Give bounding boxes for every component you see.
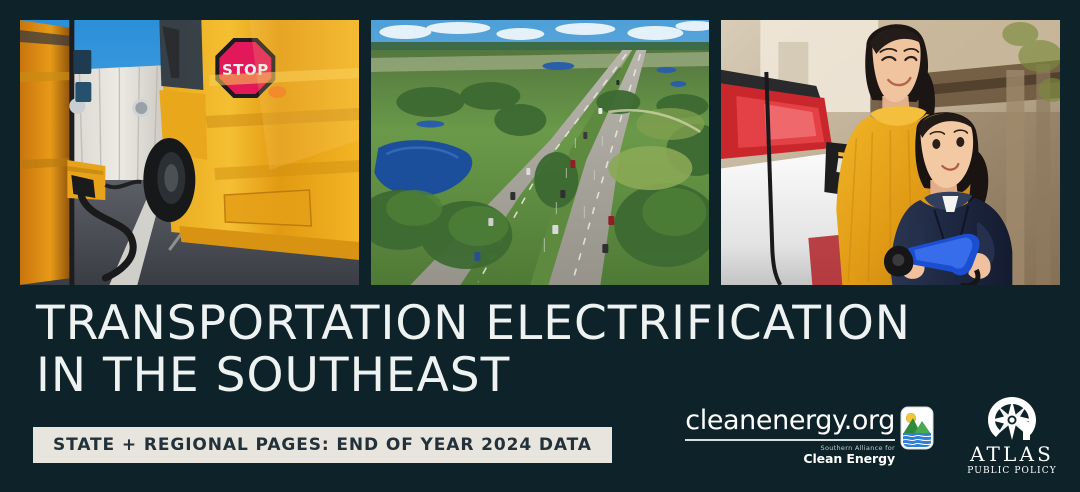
- photo-electric-school-bus-charging: STOP: [20, 20, 359, 285]
- sace-wordmark: cleanenergy.org: [685, 406, 895, 436]
- subtitle-text: STATE + REGIONAL PAGES: END OF YEAR 2024…: [53, 435, 592, 455]
- headline-line-1: TRANSPORTATION ELECTRIFICATION: [36, 298, 1056, 350]
- school-bus-illustration: STOP: [20, 20, 359, 285]
- sace-wordmark-block: cleanenergy.org Southern Alliance for Cl…: [685, 406, 895, 466]
- compass-rose-icon: [986, 396, 1038, 442]
- headline-line-2: IN THE SOUTHEAST: [36, 350, 1056, 402]
- family-ev-charging-illustration: [721, 20, 1060, 285]
- sace-tagline-block: Southern Alliance for Clean Energy: [685, 444, 895, 466]
- logo-atlas-public-policy[interactable]: ATLAS PUBLIC POLICY: [960, 396, 1064, 477]
- photo-strip: STOP: [20, 20, 1060, 285]
- headline: TRANSPORTATION ELECTRIFICATION IN THE SO…: [36, 298, 1056, 402]
- atlas-tagline: PUBLIC POLICY: [967, 465, 1056, 477]
- subtitle-chip: STATE + REGIONAL PAGES: END OF YEAR 2024…: [33, 427, 612, 463]
- aerial-highway-illustration: [371, 20, 710, 285]
- photo-aerial-highway: [371, 20, 710, 285]
- photo-family-charging-ev: [721, 20, 1060, 285]
- atlas-wordmark: ATLAS: [970, 443, 1054, 465]
- sace-divider-rule: [685, 439, 895, 441]
- logo-cleanenergy-org[interactable]: cleanenergy.org Southern Alliance for Cl…: [685, 406, 934, 466]
- logo-row: cleanenergy.org Southern Alliance for Cl…: [685, 398, 1064, 474]
- transportation-electrification-banner: STOP: [0, 0, 1080, 492]
- mountain-sun-water-icon: [900, 406, 934, 450]
- sace-tagline-large: Clean Energy: [803, 452, 895, 466]
